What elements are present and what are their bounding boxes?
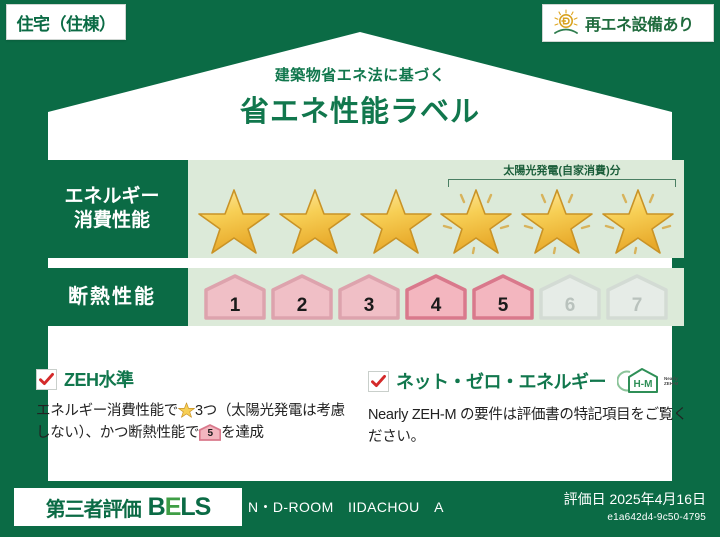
insulation-level-badge: 3 <box>338 274 400 320</box>
energy-label-line2: 消費性能 <box>74 209 150 233</box>
zeh-body-part1: エネルギー消費性能で <box>36 403 178 419</box>
footer-bar: 第三者評価 BELS N・D-ROOM IIDACHOU A 評価日 2025年… <box>0 481 720 537</box>
insulation-level-badge: 1 <box>204 274 266 320</box>
bels-letter-s: S <box>195 493 211 521</box>
energy-performance-label: エネルギー 消費性能 <box>36 160 188 258</box>
insulation-performance-body: 1 2 3 4 5 6 7 <box>188 268 684 326</box>
insulation-level-badge: 7 <box>606 274 668 320</box>
insulation-performance-label: 断熱性能 <box>36 268 188 326</box>
insulation-level-number: 4 <box>405 295 467 317</box>
page-title: 省エネ性能ラベル <box>0 88 720 130</box>
star-icon-inline <box>178 401 195 418</box>
insulation-level-badge: 5 <box>472 274 534 320</box>
solar-generation-annotation: 太陽光発電(自家消費)分 <box>448 162 676 187</box>
bels-letter-b: B <box>148 493 165 521</box>
zeh-standard-header: ZEH水準 <box>36 366 352 392</box>
red-check-icon <box>36 369 57 390</box>
inline-badge-number: 5 <box>199 426 221 442</box>
zeh-m-logo-caption: Nearly ZEH-M <box>664 376 678 386</box>
title-block: 建築物省エネ法に基づく 省エネ性能ラベル <box>0 64 720 130</box>
energy-performance-body: 太陽光発電(自家消費)分 <box>188 160 684 258</box>
insulation-level-number: 5 <box>472 295 534 317</box>
energy-star-rating <box>188 182 684 256</box>
zeh-standard-body: エネルギー消費性能で3つ（太陽光発電は考慮しない）、かつ断熱性能で5を達成 <box>36 400 352 445</box>
insulation-level-number: 6 <box>539 295 601 317</box>
insulation-level-badge-inline: 5 <box>199 424 221 441</box>
insulation-performance-row: 断熱性能 1 2 3 4 5 <box>36 268 684 326</box>
bels-third-party-badge: 第三者評価 BELS <box>14 488 242 526</box>
insulation-level-badge: 6 <box>539 274 601 320</box>
badge-renewable-label: 再エネ設備あり <box>585 11 694 35</box>
zeh-body-part3: を達成 <box>221 425 264 441</box>
zeh-standard-section: ZEH水準 エネルギー消費性能で3つ（太陽光発電は考慮しない）、かつ断熱性能で5… <box>36 366 352 445</box>
red-check-icon <box>368 371 389 392</box>
star-icon-solar <box>521 182 593 256</box>
net-zero-energy-title: ネット・ゼロ・エネルギー <box>396 368 606 394</box>
star-icon <box>198 182 270 256</box>
bels-badge-jp-label: 第三者評価 <box>46 493 141 522</box>
bels-wordmark: BELS <box>148 493 211 522</box>
badge-housing-type: 住宅（住棟） <box>6 4 126 40</box>
svg-text:H-M: H-M <box>634 379 653 390</box>
net-zero-energy-header: ネット・ゼロ・エネルギー H-M Nearly ZEH-M <box>368 366 698 396</box>
zeh-m-caption-line2: ZEH-M <box>664 381 678 386</box>
energy-label-line1: エネルギー <box>64 185 159 209</box>
evaluation-date: 評価日 2025年4月16日 <box>564 489 706 509</box>
insulation-level-badge: 4 <box>405 274 467 320</box>
sun-solar-icon <box>551 8 581 38</box>
badge-renewable-equipment: 再エネ設備あり <box>542 4 714 42</box>
zeh-m-logo-icon: H-M Nearly ZEH-M <box>617 366 678 396</box>
insulation-level-scale: 1 2 3 4 5 6 7 <box>188 268 684 326</box>
zeh-standard-title: ZEH水準 <box>64 366 134 392</box>
badge-housing-type-label: 住宅（住棟） <box>17 10 116 35</box>
zeh-body-star-count: 3つ（太陽光発電 <box>195 403 302 419</box>
evaluation-info: 評価日 2025年4月16日 e1a642d4-9c50-4795 <box>564 489 706 523</box>
insulation-level-number: 2 <box>271 295 333 317</box>
energy-performance-row: エネルギー 消費性能 太陽光発電(自家消費)分 <box>36 160 684 258</box>
star-icon-solar <box>602 182 674 256</box>
bels-letter-l: L <box>180 493 194 521</box>
insulation-level-number: 7 <box>606 295 668 317</box>
star-icon <box>360 182 432 256</box>
building-name-text: N・D-ROOM IIDACHOU A <box>248 497 444 517</box>
evaluation-id: e1a642d4-9c50-4795 <box>564 512 706 523</box>
net-zero-energy-body: Nearly ZEH-M の要件は評価書の特記項目をご覧ください。 <box>368 404 698 449</box>
insulation-level-number: 3 <box>338 295 400 317</box>
net-zero-energy-section: ネット・ゼロ・エネルギー H-M Nearly ZEH-M Nearly ZEH… <box>368 366 698 449</box>
insulation-level-badge: 2 <box>271 274 333 320</box>
star-icon-solar <box>440 182 512 256</box>
title-subtitle: 建築物省エネ法に基づく <box>0 64 720 85</box>
solar-annotation-bracket <box>448 179 676 187</box>
bels-letter-e: E <box>165 493 181 521</box>
star-icon <box>279 182 351 256</box>
solar-annotation-label: 太陽光発電(自家消費)分 <box>448 162 676 178</box>
insulation-level-number: 1 <box>204 295 266 317</box>
